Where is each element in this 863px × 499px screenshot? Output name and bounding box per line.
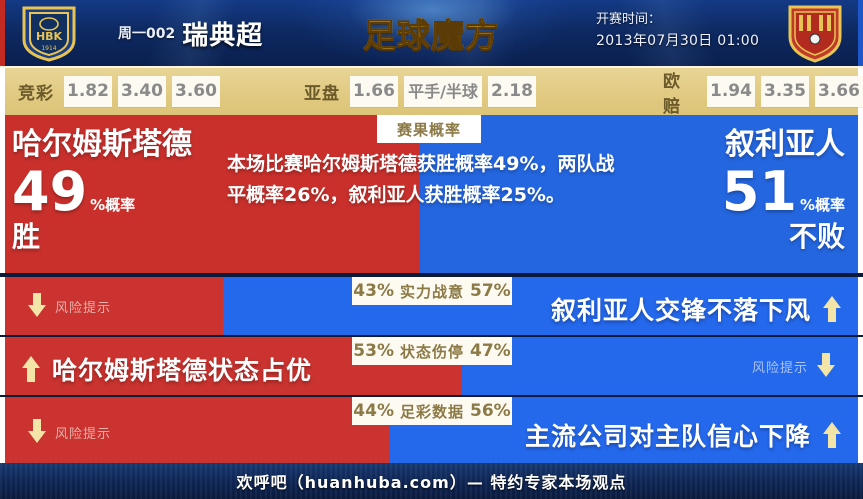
arrow-down-icon	[28, 293, 46, 319]
home-percent-value: 49	[12, 163, 87, 221]
away-verdict: 不败	[615, 221, 845, 253]
odds-value-draw[interactable]: 3.35	[761, 76, 809, 107]
comparison-row-form-injury: 53% 状态伤停 47% 哈尔姆斯塔德状态占优 风险提示	[0, 337, 863, 395]
comparison-chip[interactable]: 44% 足彩数据 56%	[352, 397, 512, 425]
header-bar: HBK 1914 周一002 瑞典超 足球魔方 开赛时间： 2013年07月30…	[0, 0, 863, 66]
odds-group-yapan: 亚盘 1.66 平手/半球 2.18	[300, 76, 536, 107]
comparison-label: 足彩数据	[400, 401, 464, 422]
footer-bar: 欢呼吧（huanhuba.com）— 特约专家本场观点	[0, 463, 863, 499]
odds-value-handicap[interactable]: 平手/半球	[404, 76, 482, 107]
odds-value-home[interactable]: 1.94	[707, 76, 755, 107]
header-left-accent	[0, 0, 5, 66]
odds-value-away[interactable]: 3.60	[172, 76, 220, 107]
home-team-name: 哈尔姆斯塔德	[12, 127, 227, 163]
odds-value-draw[interactable]: 3.40	[118, 76, 166, 107]
odds-value-home[interactable]: 1.82	[64, 76, 112, 107]
header-right-accent	[858, 0, 863, 66]
arrow-down-icon	[817, 353, 835, 379]
away-percent-suffix: %概率	[800, 194, 845, 215]
odds-group-title: 亚盘	[300, 79, 344, 104]
odds-left-accent	[0, 68, 5, 117]
comparison-home-percent: 44%	[353, 401, 394, 421]
comparison-row-betting-data: 44% 足彩数据 56% 风险提示 主流公司对主队信心下降	[0, 397, 863, 463]
home-verdict: 胜	[12, 221, 227, 253]
comparison-chip[interactable]: 53% 状态伤停 47%	[352, 337, 512, 365]
comparison-left-note: 哈尔姆斯塔德状态占优	[22, 351, 312, 387]
match-code: 周一002	[118, 23, 175, 43]
risk-tip-label: 风险提示	[55, 297, 111, 316]
away-team-name: 叙利亚人	[615, 127, 845, 163]
brand-logo: 足球魔方	[352, 6, 510, 60]
panel-left-accent	[0, 115, 5, 273]
comparison-away-percent: 57%	[470, 281, 511, 301]
comparison-right-note: 风险提示	[752, 353, 835, 379]
footer-text: 欢呼吧（huanhuba.com）— 特约专家本场观点	[237, 469, 627, 493]
comparison-right-accent	[858, 397, 863, 463]
comparison-label: 实力战意	[400, 281, 464, 302]
odds-group-oupei: 欧赔 1.94 3.35 3.66	[659, 67, 863, 117]
odds-value-home[interactable]: 1.66	[350, 76, 398, 107]
comparison-left-accent	[0, 337, 5, 395]
away-team-crest-icon	[785, 3, 845, 63]
home-percent-row: 49 %概率	[12, 163, 227, 221]
comparison-right-accent	[858, 277, 863, 335]
league-name: 瑞典超	[182, 15, 263, 52]
comparison-left-accent	[0, 277, 5, 335]
comparison-left-accent	[0, 397, 5, 463]
odds-value-away[interactable]: 2.18	[488, 76, 536, 107]
arrow-up-icon	[823, 422, 841, 448]
comparison-right-note: 主流公司对主队信心下降	[525, 417, 841, 453]
arrow-down-icon	[28, 419, 46, 445]
comparison-home-percent: 53%	[353, 341, 394, 361]
home-team-crest-icon: HBK 1914	[18, 4, 80, 62]
result-probability-panel: 赛果概率 哈尔姆斯塔德 49 %概率 胜 本场比赛哈尔姆斯塔德获胜概率49%，两…	[0, 115, 863, 273]
comparison-chip[interactable]: 43% 实力战意 57%	[352, 277, 512, 305]
away-percent-row: 51 %概率	[615, 163, 845, 221]
svg-text:HBK: HBK	[36, 30, 63, 43]
away-team-probability: 叙利亚人 51 %概率 不败	[615, 127, 845, 253]
svg-text:1914: 1914	[41, 45, 56, 52]
risk-tip-label: 风险提示	[752, 357, 808, 376]
section-tab-result-probability[interactable]: 赛果概率	[377, 115, 481, 143]
comparison-left-note: 风险提示	[28, 419, 111, 445]
odds-group-title: 欧赔	[659, 67, 701, 117]
comparison-verdict-text: 主流公司对主队信心下降	[525, 417, 811, 453]
comparison-away-percent: 56%	[470, 401, 511, 421]
odds-bar: 竞彩 1.82 3.40 3.60 亚盘 1.66 平手/半球 2.18 欧赔 …	[0, 66, 863, 115]
brand-logo-text: 足球魔方	[363, 9, 499, 57]
match-preview-infographic: HBK 1914 周一002 瑞典超 足球魔方 开赛时间： 2013年07月30…	[0, 0, 863, 499]
comparison-left-note: 风险提示	[28, 293, 111, 319]
odds-group-jingcai: 竞彩 1.82 3.40 3.60	[14, 76, 220, 107]
comparison-right-accent	[858, 337, 863, 395]
comparison-right-note: 叙利亚人交锋不落下风	[551, 291, 841, 327]
panel-right-accent	[858, 115, 863, 273]
kickoff-label: 开赛时间：	[596, 10, 786, 30]
comparison-label: 状态伤停	[400, 341, 464, 362]
match-meta: 周一002 瑞典超	[118, 12, 348, 54]
home-percent-suffix: %概率	[90, 194, 135, 215]
comparison-row-strength: 43% 实力战意 57% 风险提示 叙利亚人交锋不落下风	[0, 277, 863, 335]
comparison-verdict-text: 叙利亚人交锋不落下风	[551, 291, 811, 327]
comparison-away-percent: 47%	[470, 341, 511, 361]
odds-group-title: 竞彩	[14, 79, 58, 104]
kickoff-time: 2013年07月30日 01:00	[596, 30, 786, 52]
probability-summary-text: 本场比赛哈尔姆斯塔德获胜概率49%，两队战平概率26%，叙利亚人获胜概率25%。	[227, 149, 619, 211]
kickoff-info: 开赛时间： 2013年07月30日 01:00	[596, 10, 786, 56]
arrow-up-icon	[22, 356, 40, 382]
risk-tip-label: 风险提示	[55, 423, 111, 442]
comparison-home-percent: 43%	[353, 281, 394, 301]
comparison-verdict-text: 哈尔姆斯塔德状态占优	[52, 351, 312, 387]
home-team-probability: 哈尔姆斯塔德 49 %概率 胜	[12, 127, 227, 253]
arrow-up-icon	[823, 296, 841, 322]
away-percent-value: 51	[722, 163, 797, 221]
odds-value-away[interactable]: 3.66	[815, 76, 863, 107]
